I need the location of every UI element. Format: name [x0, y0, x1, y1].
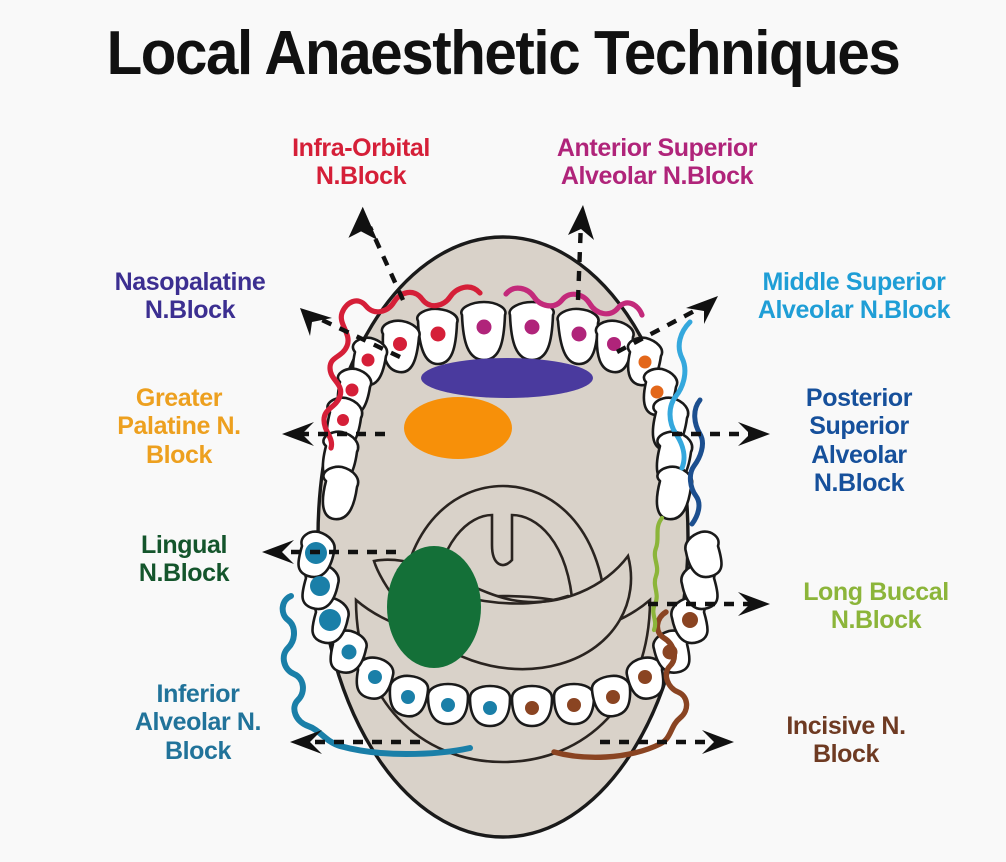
- nasopalatine-papilla-ellipse: [421, 358, 593, 398]
- label-anterior-superior-alveolar[interactable]: Anterior Superior Alveolar N.Block: [506, 134, 808, 191]
- label-posterior-superior-alveolar[interactable]: Posterior Superior Alveolar N.Block: [764, 384, 954, 497]
- greater-palatine-ellipse: [404, 397, 512, 459]
- label-inferior-alveolar[interactable]: Inferior Alveolar N. Block: [96, 680, 300, 765]
- arrowhead-incisive: [702, 730, 734, 754]
- lingual-ellipse: [387, 546, 481, 668]
- posterior-superior-alveolar-nerve-line: [690, 400, 702, 524]
- label-long-buccal[interactable]: Long Buccal N.Block: [768, 578, 984, 635]
- arrowhead-infra-orbital: [348, 206, 385, 247]
- label-nasopalatine[interactable]: Nasopalatine N.Block: [68, 268, 312, 325]
- label-incisive[interactable]: Incisive N. Block: [746, 712, 946, 769]
- arrowhead-long-buccal: [738, 592, 770, 616]
- diagram-page: Local Anaesthetic Techniques: [0, 0, 1006, 862]
- label-lingual[interactable]: Lingual N.Block: [96, 531, 272, 588]
- label-infra-orbital[interactable]: Infra-Orbital N.Block: [243, 134, 479, 191]
- label-greater-palatine[interactable]: Greater Palatine N. Block: [78, 384, 280, 469]
- arrowhead-greater-palatine: [282, 422, 314, 446]
- label-middle-superior-alveolar[interactable]: Middle Superior Alveolar N.Block: [710, 268, 998, 325]
